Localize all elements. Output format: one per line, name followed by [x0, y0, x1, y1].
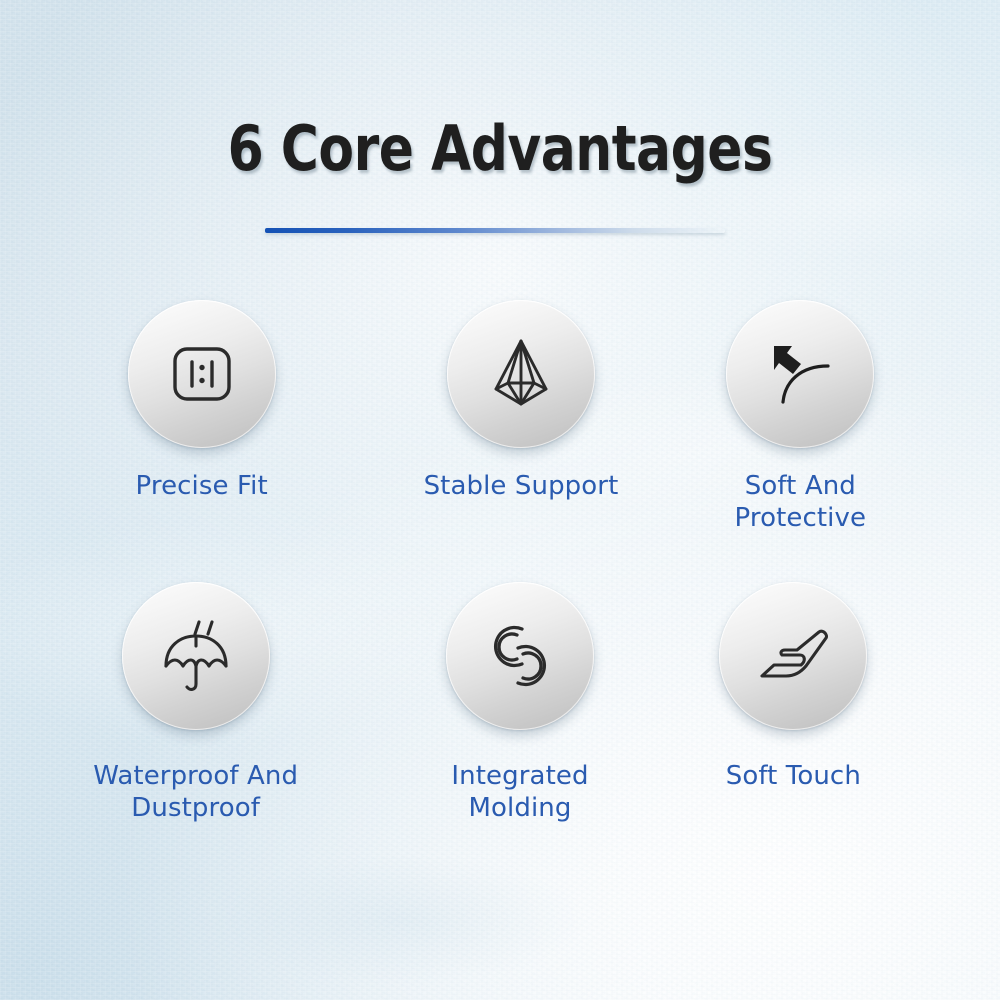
feature-icon-badge — [447, 300, 595, 448]
feature-item-soft-and-protective[interactable]: Soft And Protective — [634, 300, 967, 534]
feature-item-soft-touch[interactable]: Soft Touch — [627, 582, 960, 824]
open-hand-icon — [749, 612, 837, 700]
feature-label: Stable Support — [424, 470, 619, 502]
arrow-on-curve-cushion-icon — [756, 330, 844, 418]
feature-icon-badge — [446, 582, 594, 730]
pyramid-wireframe-icon — [478, 331, 564, 417]
advantages-poster: 6 Core Advantages Precise — [0, 0, 1000, 1000]
feature-label: Precise Fit — [136, 470, 268, 502]
feature-label: Soft Touch — [726, 760, 861, 792]
feature-icon-badge — [122, 582, 270, 730]
feature-item-precise-fit[interactable]: Precise Fit — [35, 300, 368, 534]
feature-label: Waterproof And Dustproof — [93, 760, 298, 824]
interlocking-rings-icon — [478, 614, 562, 698]
umbrella-rain-icon — [154, 614, 238, 698]
title-underline — [265, 228, 725, 233]
features-row-1: Precise Fit — [0, 300, 1000, 534]
feature-label: Soft And Protective — [735, 470, 867, 534]
feature-item-waterproof-and-dustproof[interactable]: Waterproof And Dustproof — [29, 582, 362, 824]
features-grid: Precise Fit — [0, 300, 1000, 824]
feature-icon-badge — [726, 300, 874, 448]
features-row-2: Waterproof And Dustproof — [0, 582, 1000, 824]
feature-icon-badge — [128, 300, 276, 448]
ratio-1to1-icon — [163, 335, 241, 413]
feature-icon-badge — [719, 582, 867, 730]
feature-label: Integrated Molding — [451, 760, 588, 824]
page-title: 6 Core Advantages — [35, 114, 965, 184]
